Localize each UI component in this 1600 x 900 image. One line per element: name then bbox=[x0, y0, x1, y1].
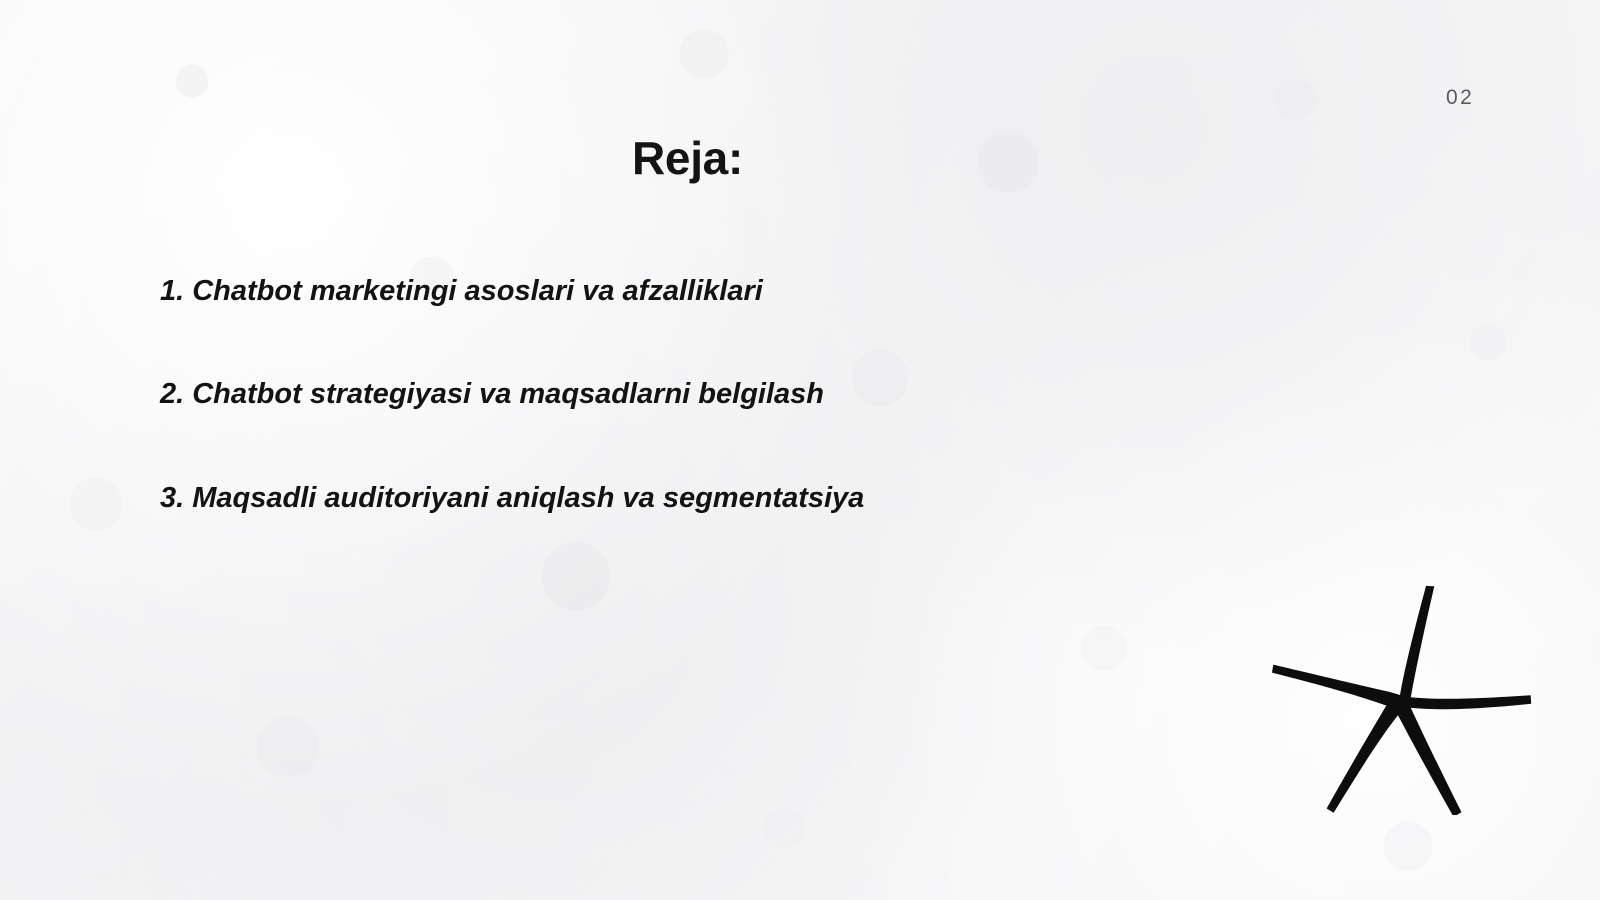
page-title: Reja: bbox=[0, 131, 1375, 185]
agenda-list: 1. Chatbot marketingi asoslari va afzall… bbox=[160, 274, 1160, 516]
list-item: 3. Maqsadli auditoriyani aniqlash va seg… bbox=[160, 481, 1160, 516]
list-item: 1. Chatbot marketingi asoslari va afzall… bbox=[160, 274, 1160, 309]
list-item: 2. Chatbot strategiyasi va maqsadlarni b… bbox=[160, 377, 1160, 412]
five-pointed-star-icon bbox=[1245, 565, 1555, 815]
page-number: 02 bbox=[1446, 86, 1474, 110]
slide-canvas: 02 Reja: 1. Chatbot marketingi asoslari … bbox=[0, 0, 1600, 900]
